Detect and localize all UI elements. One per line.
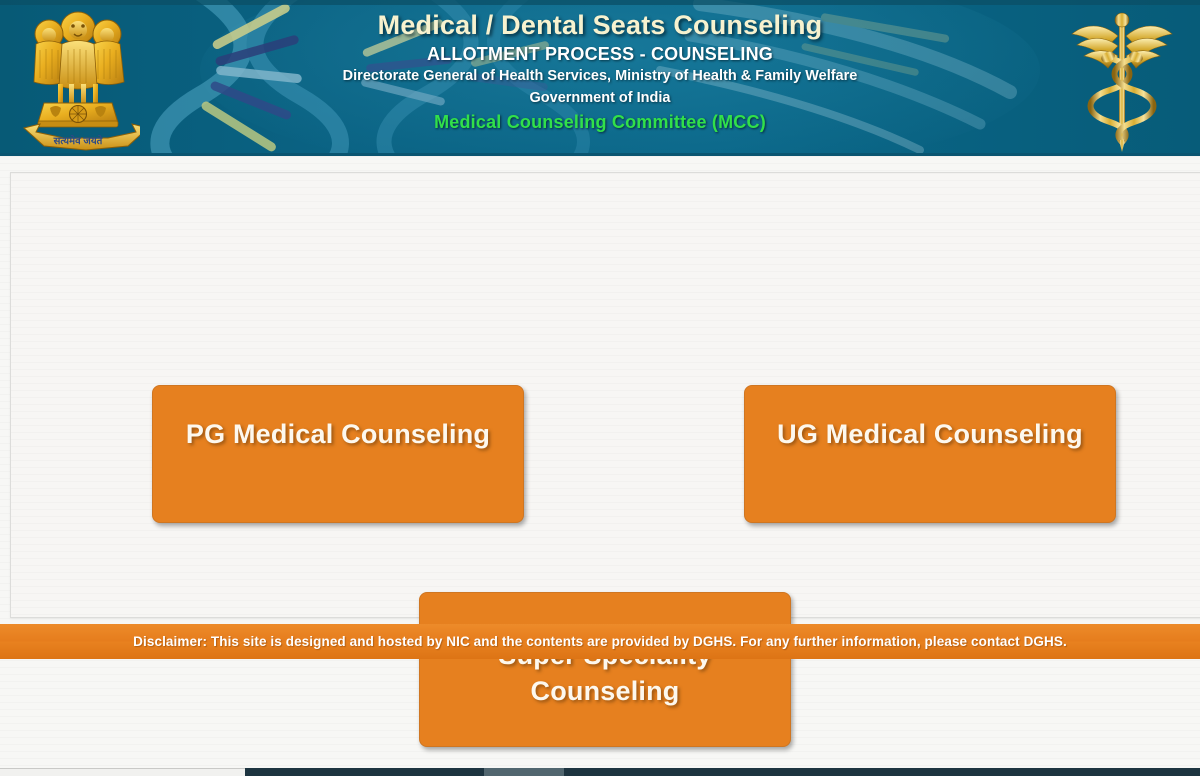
- taskbar-left-spacer: [0, 768, 245, 776]
- super-speciality-counseling-label-line2: Counseling: [420, 673, 790, 709]
- disclaimer-text: Disclaimer: This site is designed and ho…: [133, 634, 1067, 649]
- pg-medical-counseling-button[interactable]: PG Medical Counseling: [152, 385, 524, 523]
- site-header: सत्यमेव जयते Medical / Dental Seats Coun…: [0, 0, 1200, 156]
- taskbar-active-window-indicator[interactable]: [484, 768, 564, 776]
- header-organization-line-1: Directorate General of Health Services, …: [250, 66, 950, 87]
- india-national-emblem-icon: सत्यमेव जयते: [16, 4, 140, 152]
- taskbar[interactable]: [245, 768, 1200, 776]
- ug-medical-counseling-label: UG Medical Counseling: [745, 386, 1115, 452]
- header-organization-line-2: Government of India: [250, 87, 950, 109]
- page-title: Medical / Dental Seats Counseling: [250, 8, 950, 42]
- pg-medical-counseling-label: PG Medical Counseling: [153, 386, 523, 452]
- header-committee-name: Medical Counseling Committee (MCC): [250, 109, 950, 135]
- page-body: PG Medical Counseling UG Medical Counsel…: [0, 156, 1200, 776]
- super-speciality-counseling-button[interactable]: Super Speciality Counseling: [419, 592, 791, 747]
- header-top-divider: [0, 0, 1200, 5]
- header-subtitle: ALLOTMENT PROCESS - COUNSELING: [250, 42, 950, 66]
- emblem-motto-text: सत्यमेव जयते: [53, 134, 104, 147]
- content-panel: PG Medical Counseling UG Medical Counsel…: [10, 172, 1200, 618]
- ug-medical-counseling-button[interactable]: UG Medical Counseling: [744, 385, 1116, 523]
- header-text-block: Medical / Dental Seats Counseling ALLOTM…: [250, 8, 950, 135]
- caduceus-icon: [1066, 2, 1178, 154]
- disclaimer-bar: Disclaimer: This site is designed and ho…: [0, 624, 1200, 659]
